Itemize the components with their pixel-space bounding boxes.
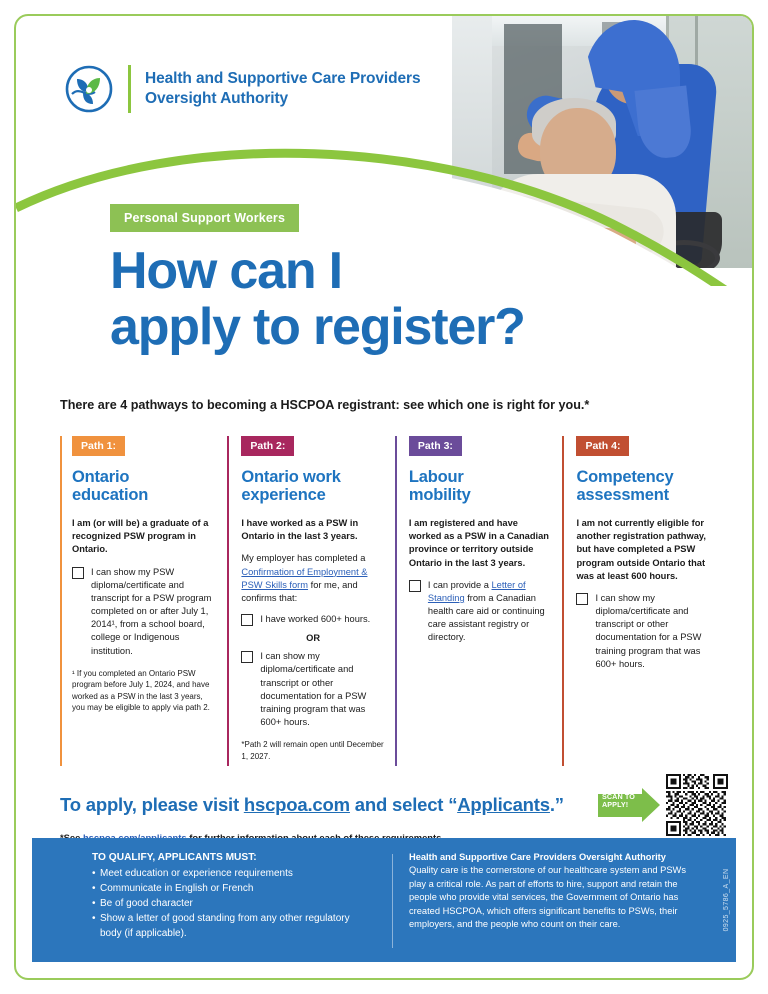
path-4-lead: I am not currently eligible for another … (576, 517, 720, 583)
footer-qualify-block: TO QUALIFY, APPLICANTS MUST: Meet educat… (92, 852, 392, 941)
path-3-heading-line-1: Labour (409, 468, 464, 486)
path-1-tag: Path 1: (72, 436, 125, 456)
page-title-line-1: How can I (110, 242, 342, 300)
logo-block: Health and Supportive Care Providers Ove… (64, 64, 420, 114)
page-title-line-2: apply to register? (110, 298, 525, 356)
pathway-column-2: Path 2: Ontario work experience I have w… (227, 436, 395, 766)
scan-label-line-2: APPLY! (602, 800, 628, 809)
list-item: Show a letter of good standing from any … (92, 911, 374, 941)
path-3-check-before: I can provide a (428, 580, 492, 590)
path-2-heading: Ontario work experience (241, 468, 385, 505)
document-code: 0925_5786_A_EN (723, 869, 730, 932)
audience-badge: Personal Support Workers (110, 204, 299, 232)
path-2-checkbox-row-2[interactable]: I can show my diploma/certificate and tr… (241, 650, 385, 729)
path-2-employer-paragraph: My employer has completed a Confirmation… (241, 552, 385, 605)
footer-divider (392, 854, 393, 948)
path-1-checkbox-label-1: I can show my PSW diploma/certificate an… (91, 566, 217, 658)
path-4-heading-line-1: Competency (576, 468, 673, 486)
pathway-column-4: Path 4: Competency assessment I am not c… (562, 436, 730, 766)
cta-after: .” (550, 794, 564, 815)
footer-about-block: Health and Supportive Care Providers Ove… (409, 852, 726, 932)
logo-divider-rule (128, 65, 131, 113)
leaf-circle-logo-icon (64, 64, 114, 114)
organization-name: Health and Supportive Care Providers Ove… (145, 69, 420, 109)
applicants-link[interactable]: Applicants (457, 794, 550, 815)
intro-text: There are 4 pathways to becoming a HSCPO… (60, 398, 589, 412)
cta-middle: and select “ (350, 794, 457, 815)
path-4-heading-line-2: assessment (576, 486, 668, 504)
page-title: How can I apply to register? (110, 244, 525, 355)
poster-page: Health and Supportive Care Providers Ove… (0, 0, 768, 994)
path-1-heading-line-1: Ontario (72, 468, 129, 486)
path-2-lead: I have worked as a PSW in Ontario in the… (241, 517, 385, 543)
path-2-checkbox-row-1[interactable]: I have worked 600+ hours. (241, 613, 385, 626)
checkbox-icon[interactable] (409, 580, 421, 592)
scan-to-apply-block: SCAN TO APPLY! (598, 774, 728, 836)
path-2-tag: Path 2: (241, 436, 294, 456)
path-1-lead: I am (or will be) a graduate of a recogn… (72, 517, 217, 557)
path-1-heading: Ontario education (72, 468, 217, 505)
footer-about-title: Health and Supportive Care Providers Ove… (409, 852, 700, 862)
pathway-column-1: Path 1: Ontario education I am (or will … (60, 436, 227, 766)
path-2-checkbox-label-1: I have worked 600+ hours. (260, 613, 370, 626)
path-4-heading: Competency assessment (576, 468, 720, 505)
list-item: Be of good character (92, 896, 374, 911)
path-2-heading-line-1: Ontario work (241, 468, 340, 486)
pathway-column-3: Path 3: Labour mobility I am registered … (395, 436, 563, 766)
path-1-checkbox-row-1[interactable]: I can show my PSW diploma/certificate an… (72, 566, 217, 658)
path-2-footnote: *Path 2 will remain open until December … (241, 739, 385, 762)
checkbox-icon[interactable] (72, 567, 84, 579)
path-4-checkbox-label-1: I can show my diploma/certificate and tr… (595, 592, 720, 671)
path-3-checkbox-label-1: I can provide a Letter of Standing from … (428, 579, 553, 645)
footer-about-body: Quality care is the cornerstone of our h… (409, 864, 700, 932)
path-3-heading-line-2: mobility (409, 486, 471, 504)
footer-qualify-list: Meet education or experience requirement… (92, 866, 374, 941)
footer-qualify-title: TO QUALIFY, APPLICANTS MUST: (92, 852, 374, 863)
path-2-heading-line-2: experience (241, 486, 325, 504)
org-name-line-1: Health and Supportive Care Providers (145, 70, 420, 87)
scan-to-apply-label: SCAN TO APPLY! (602, 793, 635, 810)
path-3-lead: I am registered and have worked as a PSW… (409, 517, 553, 570)
path-1-footnote: ¹ If you completed an Ontario PSW progra… (72, 668, 217, 713)
path-3-heading: Labour mobility (409, 468, 553, 505)
checkbox-icon[interactable] (241, 614, 253, 626)
poster-frame: Health and Supportive Care Providers Ove… (14, 14, 754, 980)
checkbox-icon[interactable] (241, 651, 253, 663)
footer-band: TO QUALIFY, APPLICANTS MUST: Meet educat… (32, 838, 736, 962)
org-name-line-2: Oversight Authority (145, 90, 288, 107)
path-3-tag: Path 3: (409, 436, 462, 456)
arrow-head (642, 788, 660, 822)
path-4-checkbox-row-1[interactable]: I can show my diploma/certificate and tr… (576, 592, 720, 671)
list-item: Meet education or experience requirement… (92, 866, 374, 881)
path-2-para-before: My employer has completed a (241, 553, 365, 563)
list-item: Communicate in English or French (92, 881, 374, 896)
caregiver-photo (452, 16, 752, 268)
path-1-heading-line-2: education (72, 486, 148, 504)
hscpoa-link[interactable]: hscpoa.com (244, 794, 350, 815)
path-3-checkbox-row-1[interactable]: I can provide a Letter of Standing from … (409, 579, 553, 645)
photo-senior-hands (577, 226, 637, 258)
path-2-or-separator: OR (241, 633, 385, 643)
pathways-columns: Path 1: Ontario education I am (or will … (60, 436, 730, 766)
cta-before: To apply, please visit (60, 794, 244, 815)
green-arrow-icon: SCAN TO APPLY! (598, 788, 660, 822)
checkbox-icon[interactable] (576, 593, 588, 605)
call-to-action: To apply, please visit hscpoa.com and se… (60, 794, 564, 816)
qr-code-icon[interactable] (666, 774, 728, 836)
path-4-tag: Path 4: (576, 436, 629, 456)
path-2-checkbox-label-2: I can show my diploma/certificate and tr… (260, 650, 385, 729)
